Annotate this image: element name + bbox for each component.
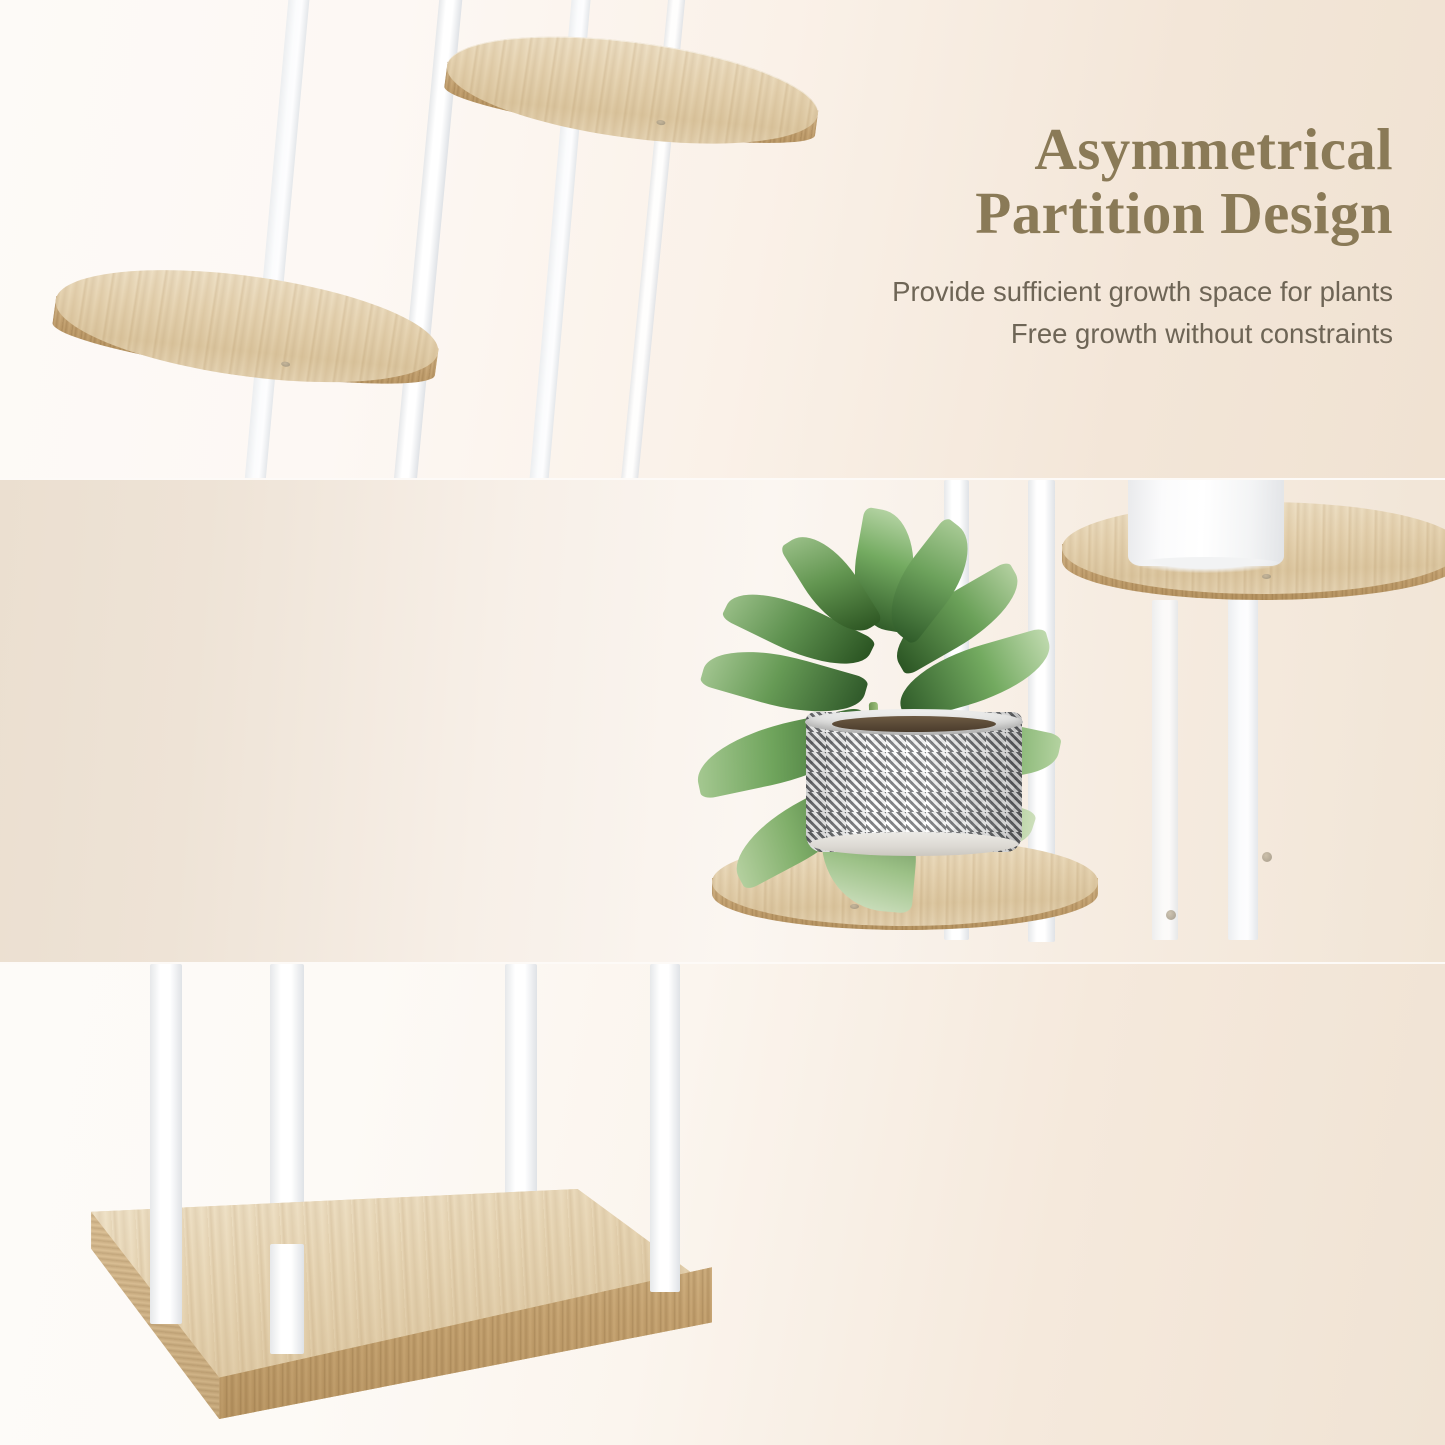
screw-head-icon <box>1262 574 1271 579</box>
screw-head-icon <box>850 904 859 909</box>
patterned-flower-pot <box>806 712 1022 852</box>
metal-leg <box>1152 600 1178 940</box>
screw-head-icon <box>1262 852 1272 862</box>
round-shelf-lower <box>45 250 445 429</box>
infographic-sheet: Asymmetrical Partition Design Provide su… <box>0 0 1445 1445</box>
panel1-subline: Provide sufficient growth space for plan… <box>892 271 1393 354</box>
white-flower-pot <box>1128 480 1284 566</box>
panel-stable-structure: Stable Structure It's more reassuring no… <box>0 480 1445 962</box>
panel-asymmetrical-partition-design: Asymmetrical Partition Design Provide su… <box>0 0 1445 478</box>
round-shelf-upper <box>438 18 824 184</box>
panel1-headline: Asymmetrical Partition Design <box>892 118 1393 245</box>
panel2-product-photo <box>0 480 1445 962</box>
panel-widened-floor: Widened Floor Better maintain stability … <box>0 964 1445 1445</box>
panel3-product-photo <box>0 964 1445 1445</box>
metal-leg <box>270 1244 304 1354</box>
metal-leg <box>150 1204 182 1324</box>
screw-head-icon <box>1166 910 1176 920</box>
panel1-text-block: Asymmetrical Partition Design Provide su… <box>892 118 1393 354</box>
metal-leg <box>650 1200 680 1292</box>
